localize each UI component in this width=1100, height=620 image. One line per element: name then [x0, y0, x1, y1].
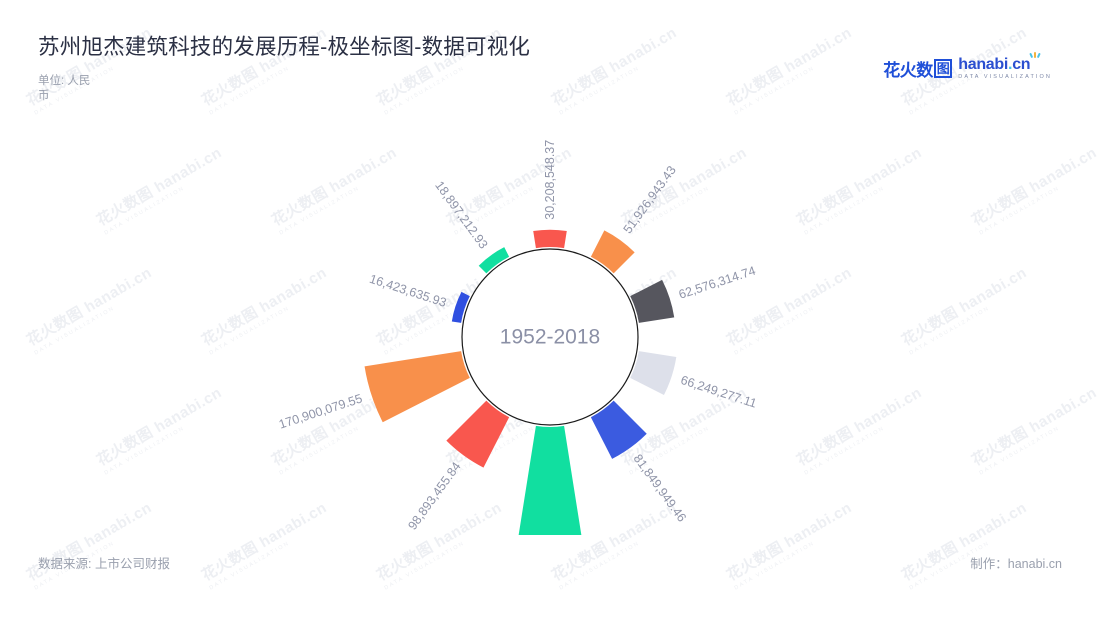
bar-value-label: 30,208,548.37 [543, 140, 557, 220]
logo-en-tld: cn [1012, 56, 1030, 73]
bar-value-label: 18,897,212.93 [432, 179, 490, 252]
bar-value-label: 62,576,314.74 [677, 264, 757, 302]
header: 苏州旭杰建筑科技的发展历程-极坐标图-数据可视化 单位: 人民币 [38, 30, 530, 104]
chart-page: 花火数图 hanabi.cnDATA VISUALIZATION花火数图 han… [0, 0, 1100, 620]
bar-value-label: 170,900,079.55 [277, 391, 364, 431]
polar-bar[interactable] [446, 401, 509, 468]
hanabi-logo: 花火数图 hanabi.cn DATA VISUALIZATION [883, 56, 1052, 81]
logo-cn-text: 花火数 [883, 56, 933, 81]
logo-latin-wordmark: hanabi.cn DATA VISUALIZATION [958, 57, 1052, 81]
polar-bar[interactable] [518, 426, 581, 535]
bar-value-label: 16,423,635.93 [368, 272, 448, 310]
data-source-note: 数据来源: 上市公司财报 [38, 553, 170, 572]
polar-chart-area: 1952-2018 30,208,548.3751,926,943.4362,5… [0, 95, 1100, 535]
polar-bar-chart[interactable]: 1952-2018 30,208,548.3751,926,943.4362,5… [0, 95, 1100, 535]
logo-cn-boxed-char: 图 [934, 59, 953, 78]
bar-value-label: 66,249,277.11 [679, 373, 759, 411]
chart-unit-subtitle: 单位: 人民币 [38, 74, 92, 104]
logo-en-main: hanabi.cn [958, 57, 1052, 73]
polar-bar[interactable] [365, 351, 470, 422]
credit-note: 制作：hanabi.cn [970, 553, 1062, 572]
center-range-label: 1952-2018 [500, 326, 600, 349]
bar-value-label: 98,893,455.84 [405, 460, 463, 533]
polar-bar[interactable] [533, 230, 567, 248]
logo-en-subtitle: DATA VISUALIZATION [958, 75, 1052, 81]
bar-value-label: 51,926,943.43 [621, 163, 679, 236]
polar-bar[interactable] [630, 280, 674, 323]
polar-bar[interactable] [630, 351, 676, 395]
center-circle-group: 1952-2018 [462, 249, 638, 425]
page-title: 苏州旭杰建筑科技的发展历程-极坐标图-数据可视化 [38, 30, 530, 61]
logo-en-name: hanabi [958, 56, 1008, 73]
logo-chinese-wordmark: 花火数图 [883, 56, 952, 81]
bar-value-label: 81,849,949.46 [631, 452, 689, 525]
